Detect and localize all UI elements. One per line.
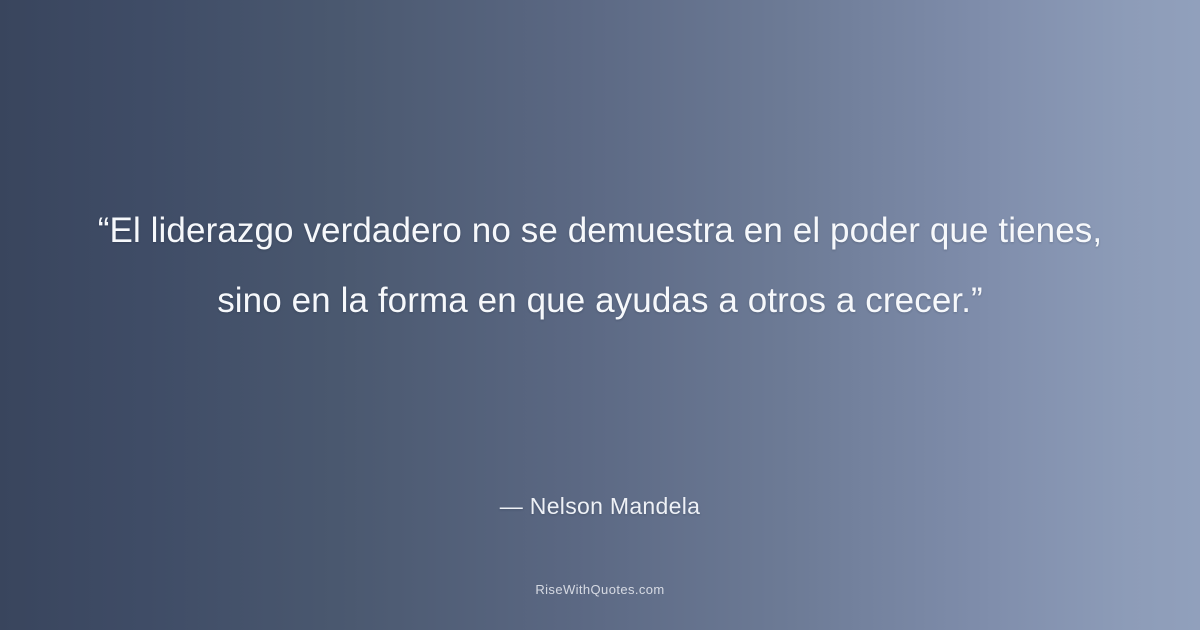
quote-block: “El liderazgo verdadero no se demuestra … <box>0 196 1200 336</box>
quote-card: “El liderazgo verdadero no se demuestra … <box>0 0 1200 630</box>
quote-attribution: — Nelson Mandela <box>0 493 1200 520</box>
footer-website-label: RiseWithQuotes.com <box>0 582 1200 597</box>
quote-text: “El liderazgo verdadero no se demuestra … <box>72 196 1128 336</box>
